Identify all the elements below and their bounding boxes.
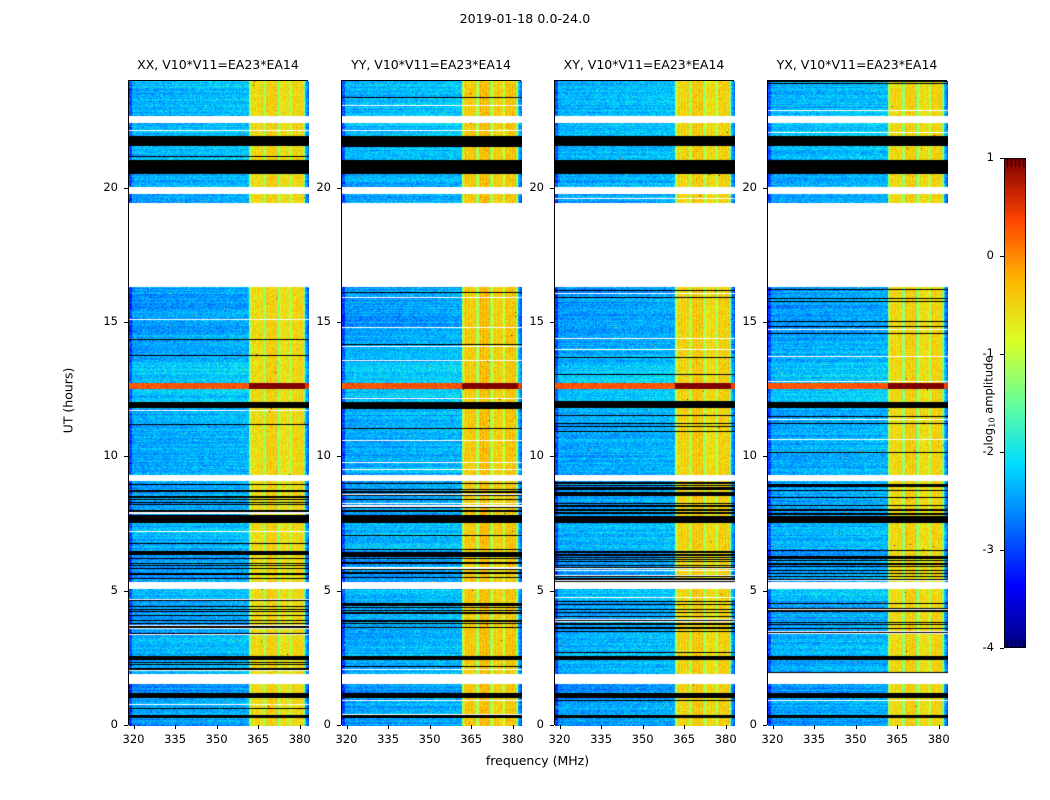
y-tick-label: 15 [514,314,544,328]
y-tick-label: 10 [514,448,544,462]
x-tick-label: 335 [581,732,621,746]
colorbar-tick-mark [1000,452,1004,453]
y-tick-mark [550,188,554,189]
colorbar-gradient [1005,159,1025,647]
x-tick-label: 335 [368,732,408,746]
y-tick-label: 0 [88,717,118,731]
y-tick-label: 15 [727,314,757,328]
colorbar-label: log10 amplitude [981,341,996,461]
y-tick-label: 5 [727,583,757,597]
figure-canvas: 2019-01-18 0.0-24.0 XX, V10*V11=EA23*EA1… [0,0,1050,800]
spectrum-image-xy [555,81,735,726]
x-tick-mark [471,725,472,729]
y-tick-mark [124,725,128,726]
y-tick-label: 10 [301,448,331,462]
y-tick-mark [124,322,128,323]
x-tick-label: 350 [836,732,876,746]
colorbar-tick-label: 0 [964,248,994,262]
x-tick-mark [217,725,218,729]
x-tick-label: 365 [664,732,704,746]
x-tick-mark [134,725,135,729]
y-tick-mark [337,322,341,323]
y-tick-mark [550,322,554,323]
y-tick-mark [550,591,554,592]
spectrum-image-yx [768,81,948,726]
x-tick-mark [643,725,644,729]
x-tick-mark [939,725,940,729]
x-tick-label: 335 [794,732,834,746]
colorbar-tick-mark [1000,354,1004,355]
y-tick-label: 10 [88,448,118,462]
y-tick-mark [124,456,128,457]
y-tick-mark [550,456,554,457]
y-tick-label: 20 [514,180,544,194]
y-tick-mark [763,456,767,457]
colorbar-label-suffix: amplitude [981,356,995,418]
y-tick-label: 10 [727,448,757,462]
colorbar-label-subscript: 10 [987,417,997,428]
y-tick-label: 0 [301,717,331,731]
panel-title-xy: XY, V10*V11=EA23*EA14 [524,57,764,72]
x-tick-label: 365 [877,732,917,746]
x-tick-mark [601,725,602,729]
x-tick-mark [560,725,561,729]
x-axis-label: frequency (MHz) [128,753,947,768]
colorbar-tick-mark [1000,550,1004,551]
dynamic-spectrum-xy[interactable] [554,80,734,725]
panel-title-xx: XX, V10*V11=EA23*EA14 [98,57,338,72]
y-tick-label: 5 [514,583,544,597]
x-tick-label: 320 [540,732,580,746]
x-tick-mark [430,725,431,729]
y-tick-mark [337,591,341,592]
y-tick-mark [337,188,341,189]
dynamic-spectrum-xx[interactable] [128,80,308,725]
colorbar-label-prefix: log [981,428,995,446]
colorbar [1004,158,1026,648]
y-tick-mark [124,188,128,189]
x-tick-mark [856,725,857,729]
y-axis-label: UT (hours) [61,310,76,490]
y-tick-label: 20 [727,180,757,194]
y-tick-mark [550,725,554,726]
y-tick-label: 0 [514,717,544,731]
y-tick-label: 15 [88,314,118,328]
x-tick-label: 380 [280,732,320,746]
x-tick-label: 380 [919,732,959,746]
x-tick-label: 335 [155,732,195,746]
x-tick-label: 380 [706,732,746,746]
panel-title-yx: YX, V10*V11=EA23*EA14 [737,57,977,72]
y-tick-label: 5 [301,583,331,597]
x-tick-label: 320 [753,732,793,746]
y-tick-label: 0 [727,717,757,731]
x-tick-label: 320 [327,732,367,746]
x-tick-label: 350 [410,732,450,746]
x-tick-mark [347,725,348,729]
figure-suptitle: 2019-01-18 0.0-24.0 [0,11,1050,26]
y-tick-label: 15 [301,314,331,328]
colorbar-tick-mark [1000,648,1004,649]
x-tick-mark [814,725,815,729]
x-tick-mark [773,725,774,729]
colorbar-tick-label: -3 [964,542,994,556]
y-tick-label: 20 [301,180,331,194]
x-tick-mark [175,725,176,729]
x-tick-label: 350 [197,732,237,746]
x-tick-label: 320 [114,732,154,746]
dynamic-spectrum-yy[interactable] [341,80,521,725]
spectrum-image-xx [129,81,309,726]
y-tick-mark [763,591,767,592]
x-tick-label: 365 [451,732,491,746]
panel-title-yy: YY, V10*V11=EA23*EA14 [311,57,551,72]
colorbar-tick-label: -4 [964,640,994,654]
y-tick-mark [763,725,767,726]
colorbar-tick-label: 1 [964,150,994,164]
colorbar-tick-mark [1000,256,1004,257]
x-tick-mark [388,725,389,729]
x-tick-mark [684,725,685,729]
y-tick-mark [337,725,341,726]
y-tick-mark [763,322,767,323]
y-tick-mark [763,188,767,189]
x-tick-label: 350 [623,732,663,746]
spectrum-image-yy [342,81,522,726]
colorbar-tick-mark [1000,158,1004,159]
y-tick-mark [337,456,341,457]
dynamic-spectrum-yx[interactable] [767,80,947,725]
x-tick-mark [897,725,898,729]
x-tick-mark [258,725,259,729]
y-tick-label: 20 [88,180,118,194]
x-tick-label: 365 [238,732,278,746]
y-tick-mark [124,591,128,592]
x-tick-label: 380 [493,732,533,746]
y-tick-label: 5 [88,583,118,597]
